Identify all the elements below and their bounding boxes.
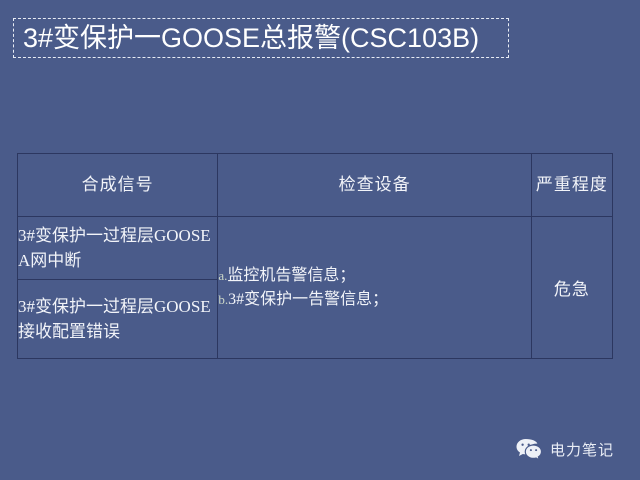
device-step-b-text: 3#变保护一告警信息；	[228, 291, 388, 308]
device-step-a-marker: a.	[218, 268, 227, 283]
slide-title-box: 3#变保护一GOOSE总报警(CSC103B)	[13, 18, 509, 58]
alarm-table: 合成信号 检查设备 严重程度 3#变保护一过程层GOOSE A网中断 a.监控机…	[17, 153, 613, 359]
signal-cell-2: 3#变保护一过程层GOOSE接收配置错误	[18, 280, 218, 359]
severity-badge: 危急	[531, 217, 612, 359]
table-row: 3#变保护一过程层GOOSE A网中断 a.监控机告警信息； b.3#变保护一告…	[18, 217, 613, 280]
column-header-severity: 严重程度	[531, 154, 612, 217]
wechat-icon	[516, 438, 542, 460]
column-header-device: 检查设备	[218, 154, 532, 217]
device-check-cell: a.监控机告警信息； b.3#变保护一告警信息；	[218, 217, 532, 359]
watermark-label: 电力笔记	[550, 439, 614, 460]
device-step-b: b.3#变保护一告警信息；	[218, 288, 531, 312]
table-header-row: 合成信号 检查设备 严重程度	[18, 154, 613, 217]
device-step-b-marker: b.	[218, 292, 228, 307]
signal-cell-1: 3#变保护一过程层GOOSE A网中断	[18, 217, 218, 280]
watermark: 电力笔记	[516, 438, 614, 460]
page-title: 3#变保护一GOOSE总报警(CSC103B)	[14, 23, 479, 53]
device-step-a: a.监控机告警信息；	[218, 264, 531, 288]
device-step-a-text: 监控机告警信息；	[227, 267, 355, 284]
column-header-signal: 合成信号	[18, 154, 218, 217]
